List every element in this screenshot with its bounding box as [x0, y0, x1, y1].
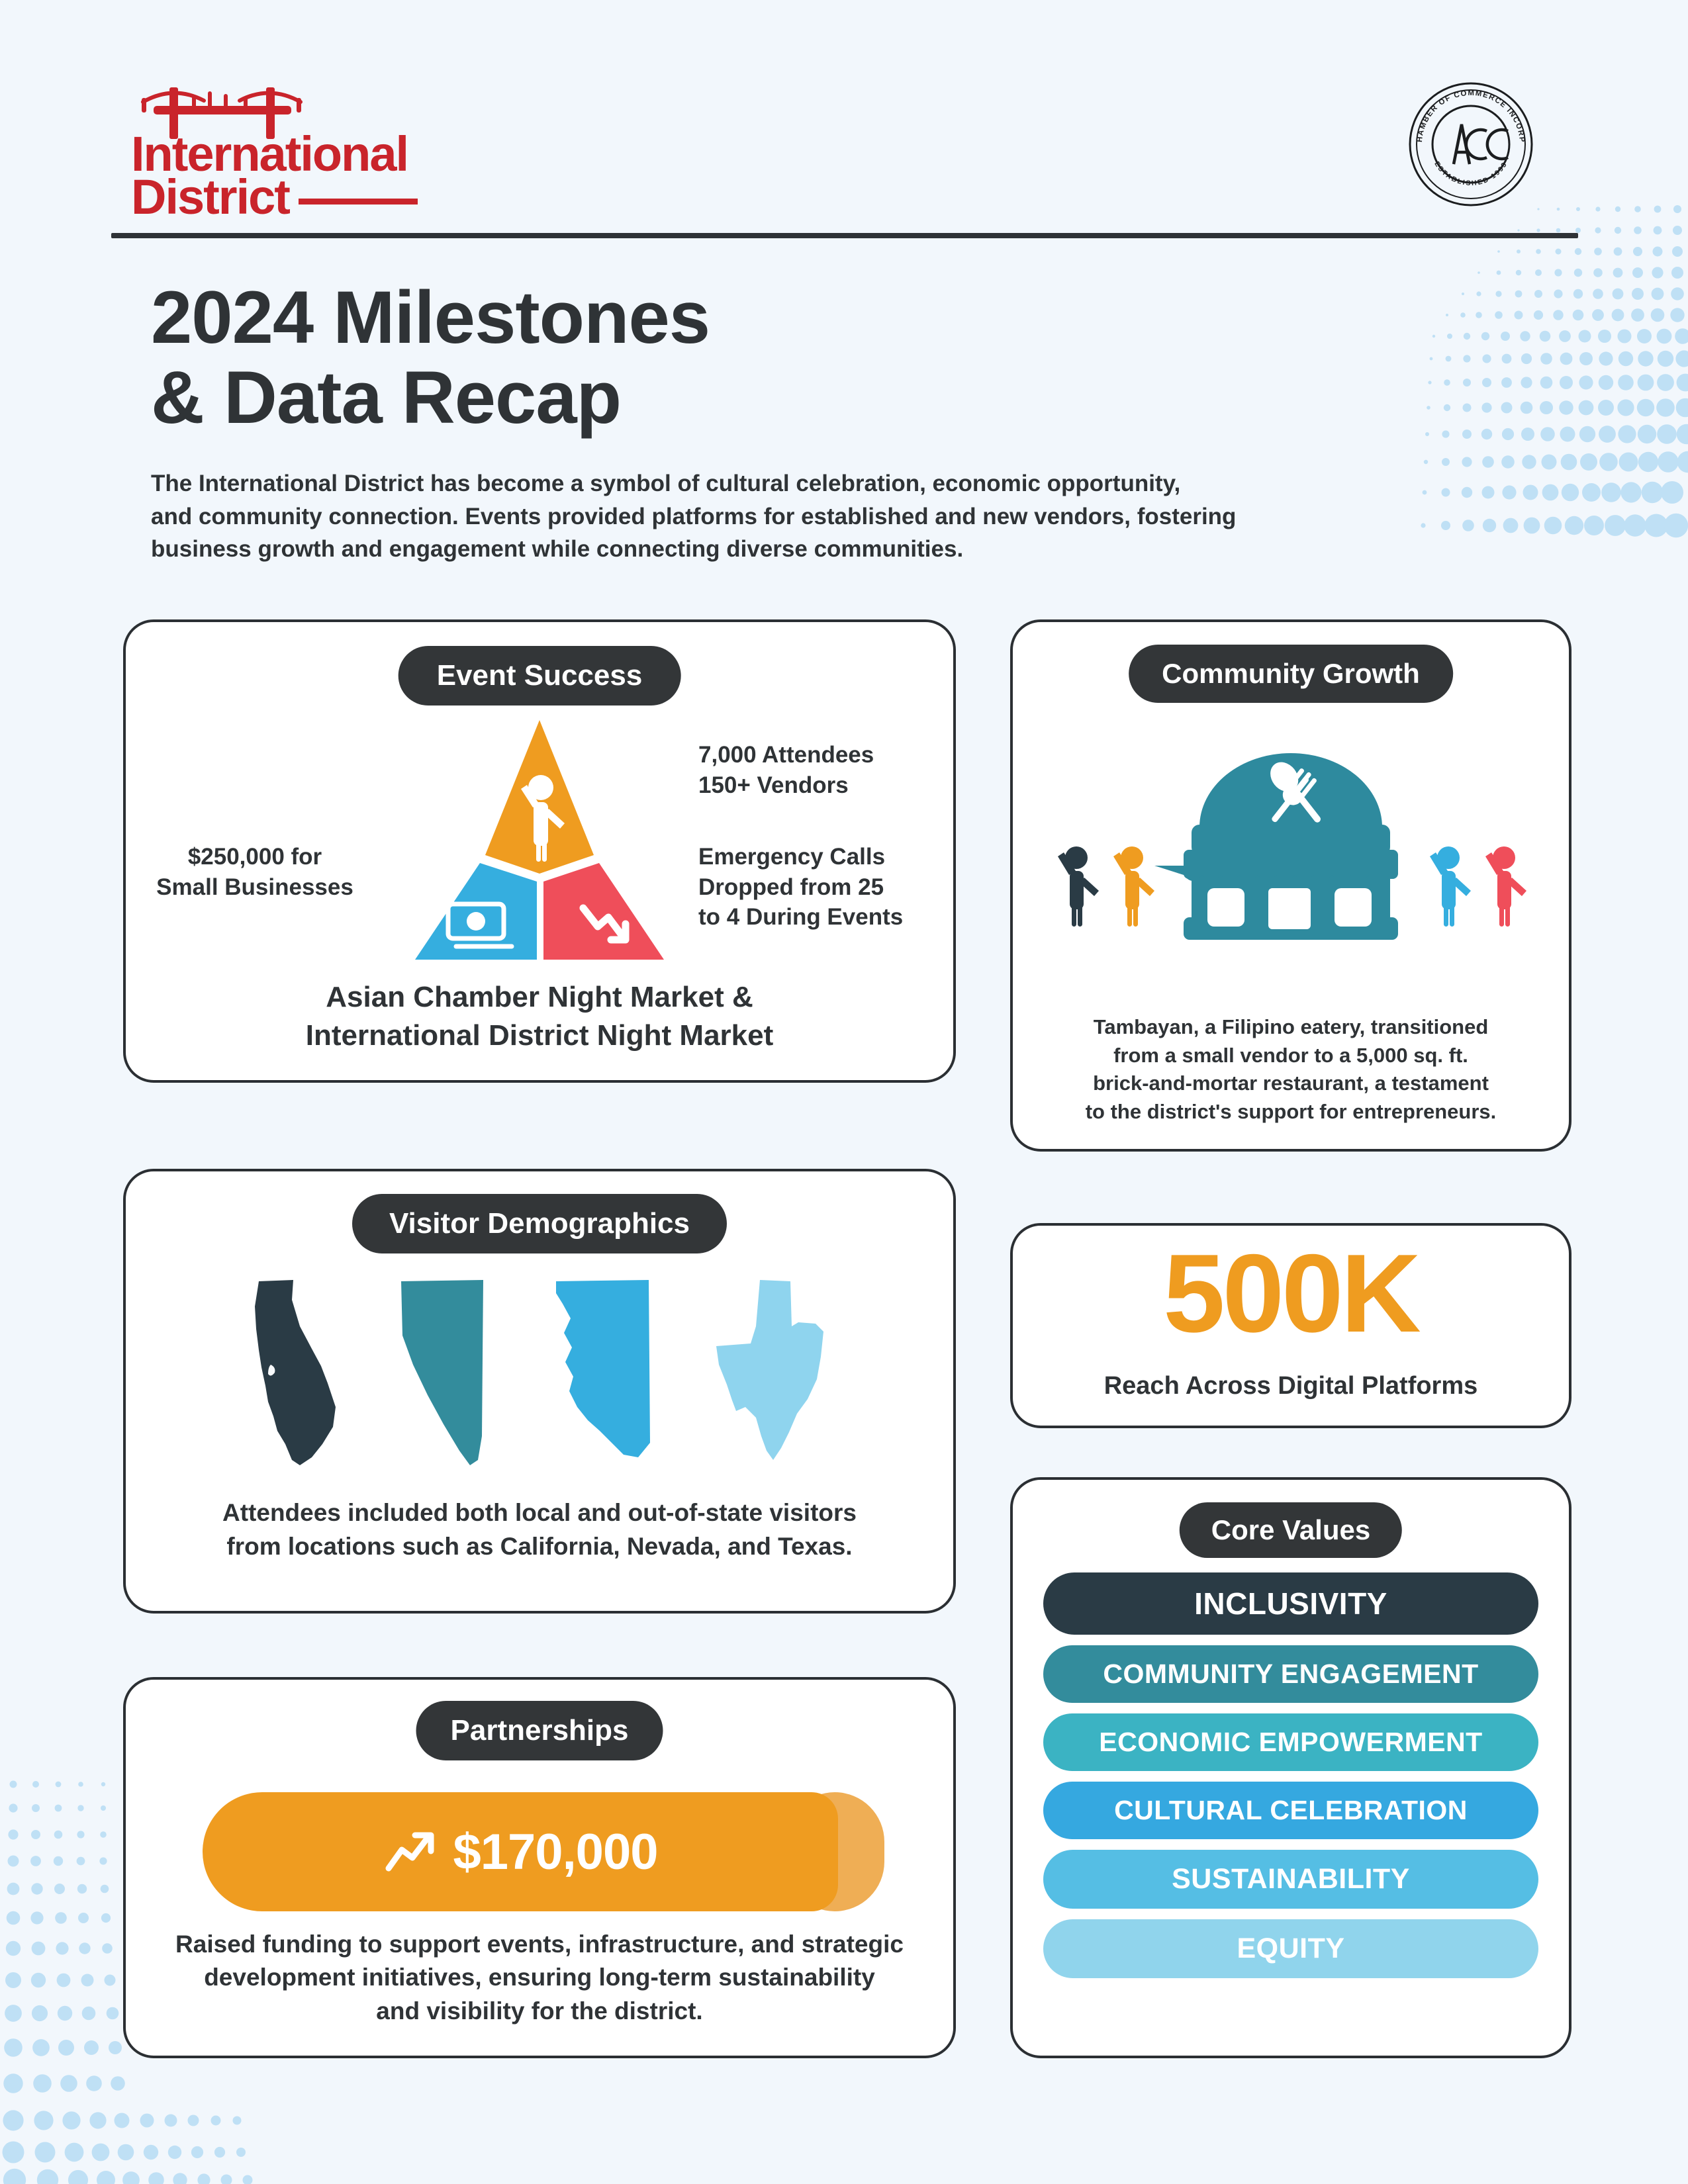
core-value-pill-inclusivity[interactable]: INCLUSIVITY [1043, 1572, 1538, 1635]
page-title: 2024 Milestones & Data Recap [151, 278, 1475, 438]
page-header: International District ASIAN CHAMBER OF … [111, 66, 1577, 225]
visitor-demographics-badge: Visitor Demographics [352, 1194, 727, 1253]
core-values-badge: Core Values [1180, 1502, 1402, 1558]
partnerships-badge: Partnerships [416, 1701, 663, 1760]
community-growth-card: Community Growth [1010, 619, 1571, 1152]
visitor-demographics-caption: Attendees included both local and out-of… [126, 1496, 953, 1563]
acc-seal-logo: ASIAN CHAMBER OF COMMERCE INCORPORATED E… [1405, 78, 1537, 214]
community-growth-caption: Tambayan, a Filipino eatery, transitione… [1013, 1013, 1569, 1126]
community-growth-illustration [1013, 721, 1569, 946]
state-shapes-row [126, 1277, 953, 1476]
core-value-pill-community-engagement[interactable]: COMMUNITY ENGAGEMENT [1043, 1645, 1538, 1703]
arizona-state-shape [551, 1277, 657, 1469]
core-values-card: Core Values INCLUSIVITY COMMUNITY ENGAGE… [1010, 1477, 1571, 2058]
visitor-demographics-card: Visitor Demographics Attendees included … [123, 1169, 956, 1614]
digital-reach-card: 500K Reach Across Digital Platforms [1010, 1223, 1571, 1428]
international-district-logo[interactable]: International District [131, 79, 418, 218]
svg-text:ESTABLISHED 1993: ESTABLISHED 1993 [1432, 160, 1509, 187]
reach-number: 500K [1013, 1238, 1569, 1349]
waving-person-orange-icon [1113, 846, 1154, 927]
waving-person-dark-icon [1058, 846, 1099, 927]
event-safety-label: Emergency Calls Dropped from 25 to 4 Dur… [698, 842, 903, 933]
three-segment-pyramid-icon [400, 715, 679, 966]
funding-bar-fill: $170,000 [203, 1792, 838, 1911]
event-success-badge: Event Success [399, 646, 681, 705]
nevada-state-shape [396, 1277, 495, 1469]
logo-line-2: District [131, 175, 289, 218]
event-attendees-label: 7,000 Attendees 150+ Vendors [698, 740, 874, 800]
seal-established-text: ESTABLISHED 1993 [1432, 160, 1509, 187]
core-value-pill-cultural-celebration[interactable]: CULTURAL CELEBRATION [1043, 1782, 1538, 1839]
event-success-pyramid-diagram: 7,000 Attendees 150+ Vendors $250,000 fo… [126, 715, 953, 973]
header-divider [111, 233, 1578, 238]
california-state-shape [251, 1277, 340, 1469]
event-success-card: Event Success [123, 619, 956, 1083]
core-value-pill-equity[interactable]: EQUITY [1043, 1919, 1538, 1978]
event-funding-label: $250,000 for Small Businesses [136, 842, 374, 902]
partnerships-card: Partnerships $170,000 Raised funding to … [123, 1677, 956, 2058]
trending-up-icon [383, 1830, 436, 1874]
core-values-list: INCLUSIVITY COMMUNITY ENGAGEMENT ECONOMI… [1043, 1572, 1538, 1978]
intro-paragraph: The International District has become a … [151, 467, 1395, 566]
partnerships-caption: Raised funding to support events, infras… [126, 1928, 953, 2028]
core-value-pill-economic-empowerment[interactable]: ECONOMIC EMPOWERMENT [1043, 1713, 1538, 1771]
event-success-caption: Asian Chamber Night Market & Internation… [126, 978, 953, 1055]
community-growth-badge: Community Growth [1129, 645, 1453, 703]
core-value-pill-sustainability[interactable]: SUSTAINABILITY [1043, 1850, 1538, 1909]
texas-state-shape [712, 1277, 828, 1469]
title-area: 2024 Milestones & Data Recap The Interna… [151, 278, 1475, 566]
reach-caption: Reach Across Digital Platforms [1013, 1372, 1569, 1400]
partnerships-amount: $170,000 [453, 1823, 658, 1881]
waving-person-red-icon [1485, 846, 1526, 927]
logo-underline-rule [299, 199, 418, 205]
waving-person-blue-icon [1430, 846, 1471, 927]
partnerships-funding-bar: $170,000 [203, 1792, 884, 1911]
